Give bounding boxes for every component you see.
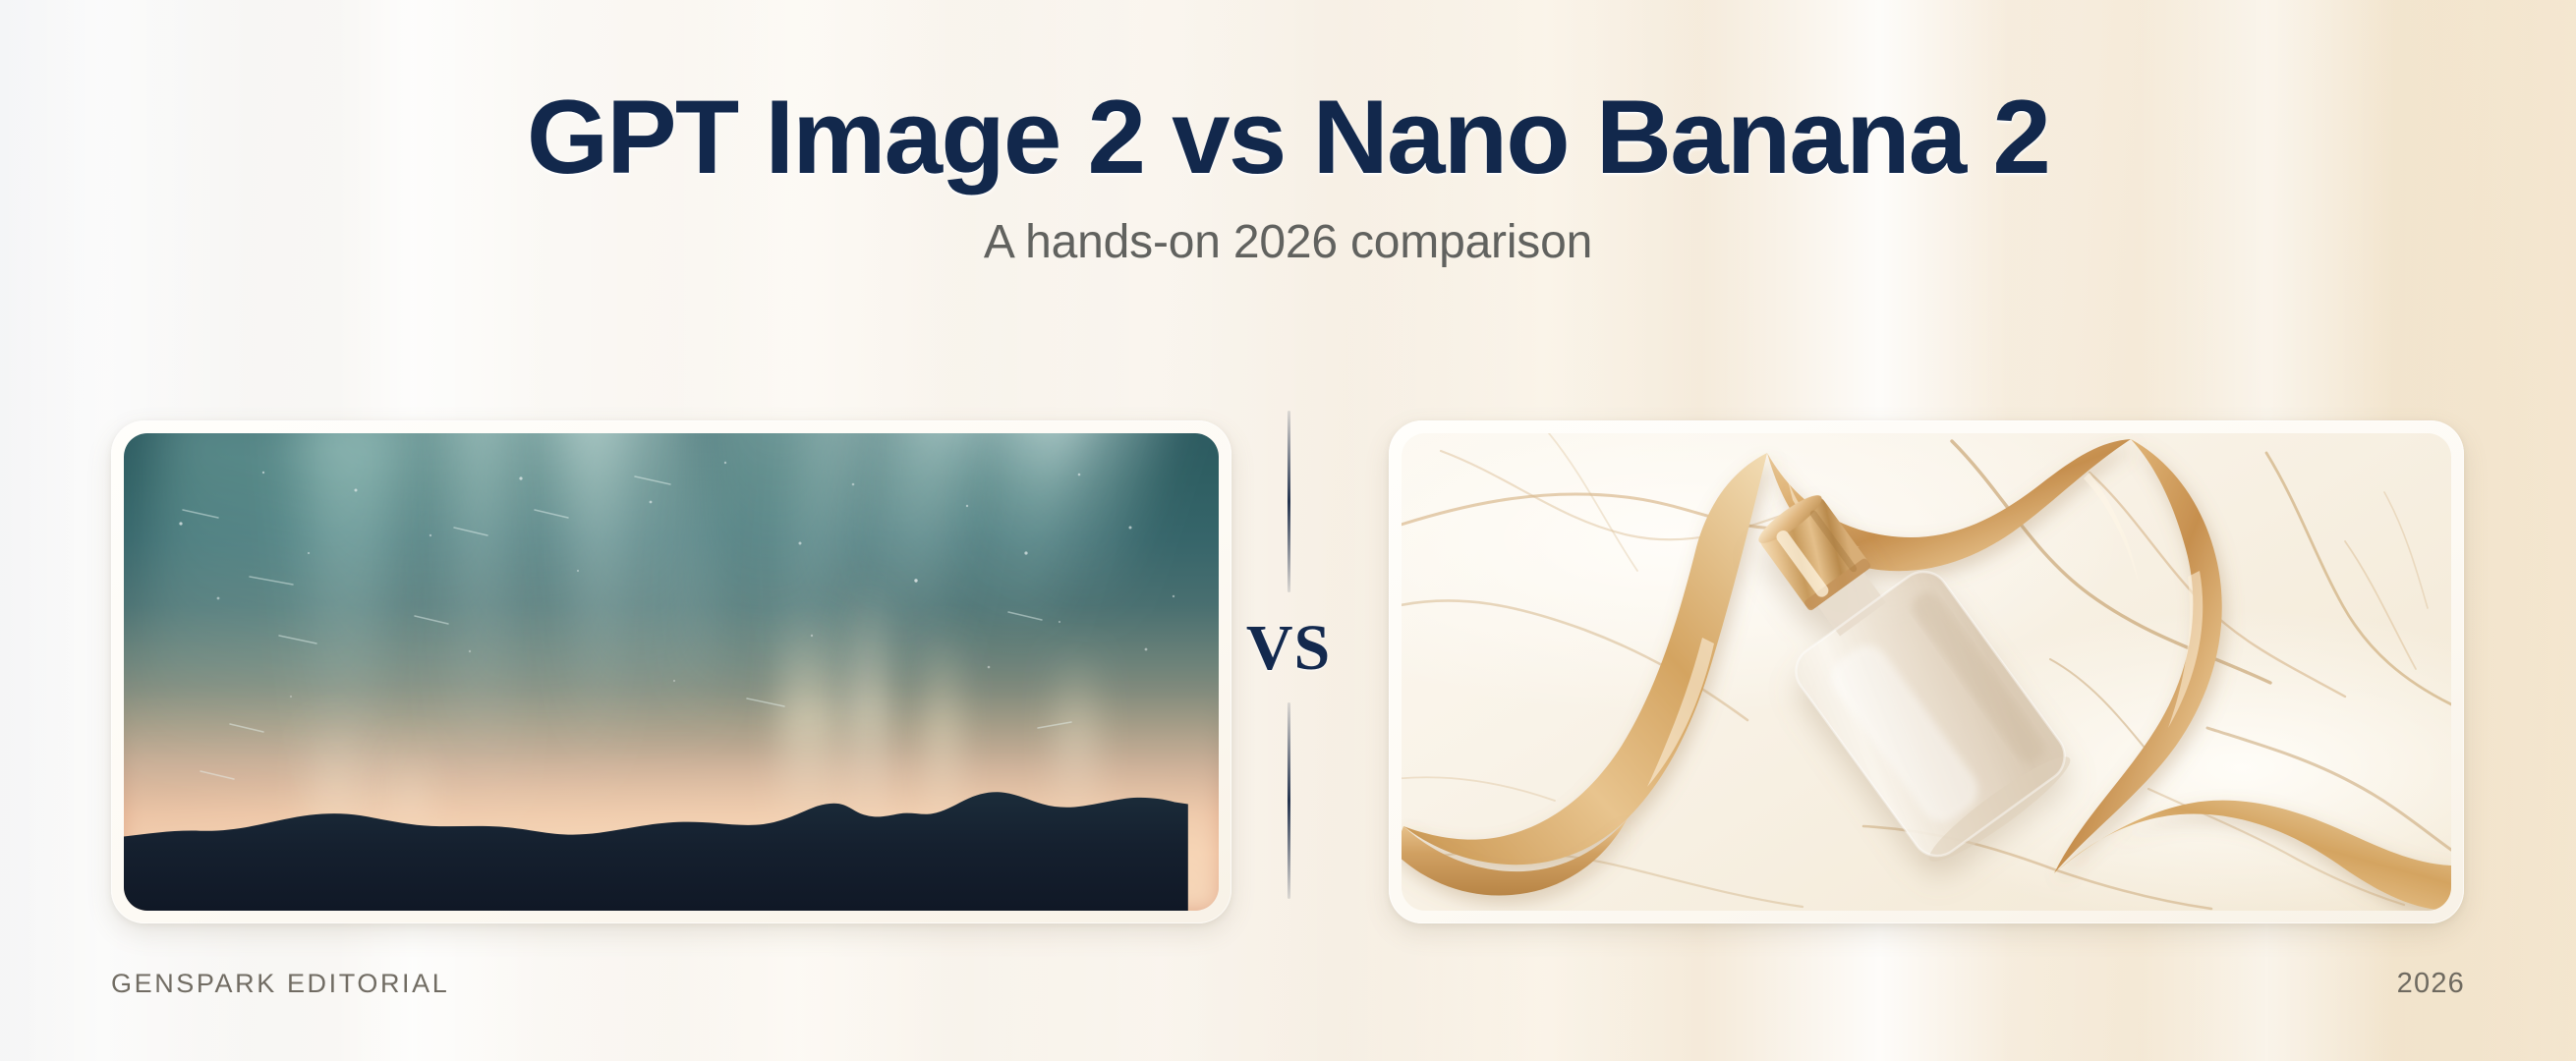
divider-rule-top	[1288, 411, 1290, 592]
comparison-card-right[interactable]	[1389, 420, 2464, 923]
footer-brand: GENSPARK EDITORIAL	[111, 969, 449, 999]
poster-canvas: GPT Image 2 vs Nano Banana 2 A hands-on …	[0, 0, 2576, 1061]
header: GPT Image 2 vs Nano Banana 2 A hands-on …	[0, 0, 2576, 266]
vs-label: VS	[1246, 592, 1331, 702]
mountain-ridge-silhouette	[124, 787, 1188, 911]
page-title: GPT Image 2 vs Nano Banana 2	[0, 84, 2576, 190]
frosted-perfume-bottle	[1402, 433, 2451, 911]
comparison-card-left[interactable]	[111, 420, 1231, 923]
footer-year: 2026	[2397, 968, 2465, 1000]
perfume-bottle-photo	[1402, 433, 2451, 911]
aurora-borealis-photo	[124, 433, 1219, 911]
divider-rule-bottom	[1288, 702, 1290, 899]
vs-divider: VS	[1287, 411, 1290, 912]
footer: GENSPARK EDITORIAL 2026	[111, 968, 2465, 1000]
page-subtitle: A hands-on 2026 comparison	[0, 219, 2576, 266]
